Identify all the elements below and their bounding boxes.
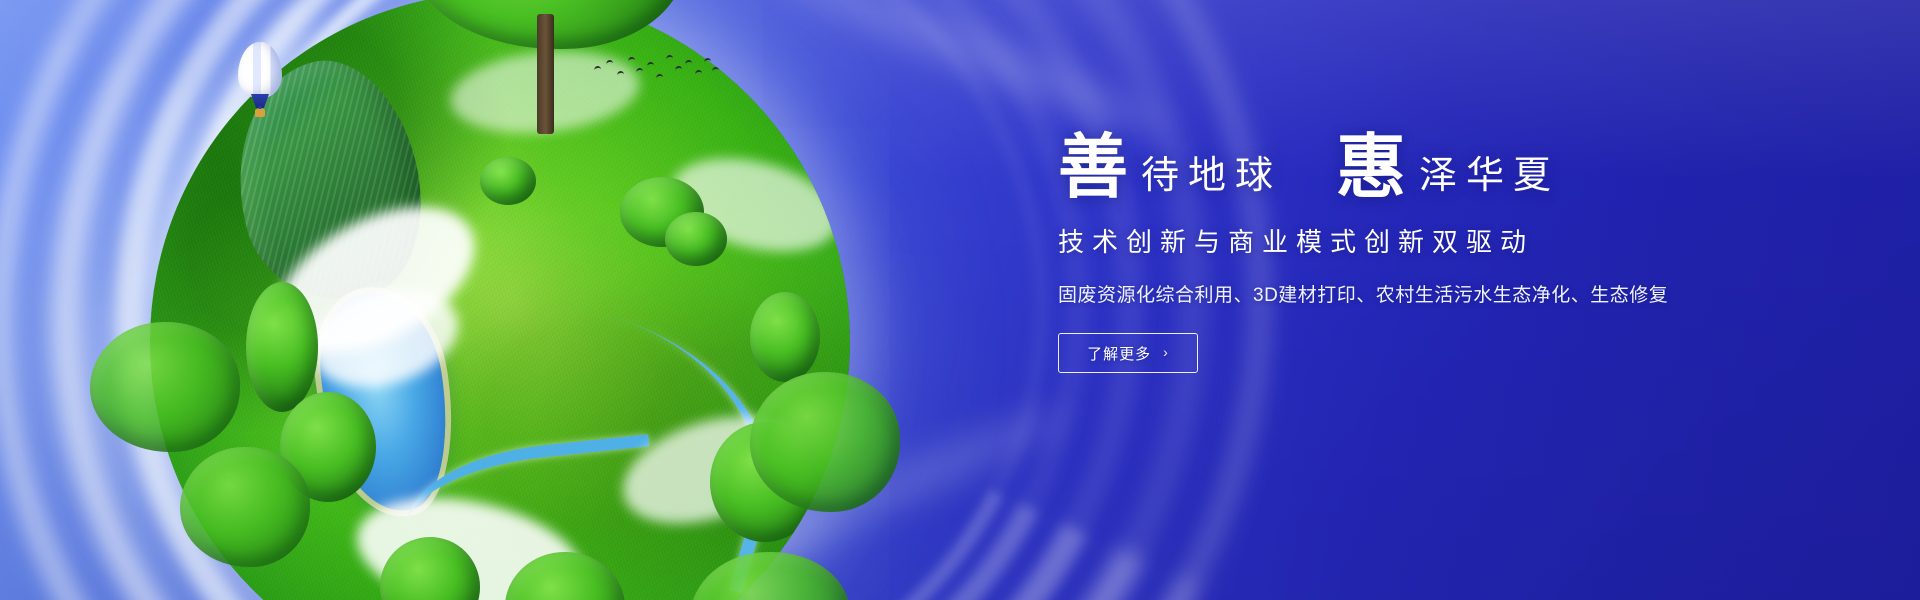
bird-icon bbox=[656, 74, 663, 79]
hero-subtitle: 技术创新与商业模式创新双驱动 bbox=[1058, 222, 1818, 259]
balloon-envelope bbox=[238, 42, 282, 98]
bird-icon bbox=[594, 66, 601, 71]
bird-icon bbox=[675, 66, 682, 71]
bird-flock bbox=[592, 52, 722, 86]
chevron-right-icon: › bbox=[1163, 344, 1169, 360]
bird-icon bbox=[666, 55, 673, 60]
tree-foliage bbox=[246, 282, 318, 412]
hero-banner: 善 待地球 惠 泽华夏 技术创新与商业模式创新双驱动 固废资源化综合利用、3D建… bbox=[0, 0, 1920, 600]
tree-foliage bbox=[180, 447, 310, 567]
bird-icon bbox=[704, 58, 711, 63]
bird-icon bbox=[712, 67, 719, 72]
bird-icon bbox=[636, 68, 643, 73]
bird-icon bbox=[685, 60, 692, 65]
headline-phrase1-small: 待地球 bbox=[1129, 157, 1282, 202]
bird-icon bbox=[617, 71, 624, 76]
tree-foliage bbox=[90, 322, 240, 452]
bird-icon bbox=[695, 70, 702, 75]
headline-phrase2-big: 惠 bbox=[1336, 134, 1407, 204]
bird-icon bbox=[628, 57, 635, 62]
bird-icon bbox=[647, 62, 654, 67]
hero-content: 善 待地球 惠 泽华夏 技术创新与商业模式创新双驱动 固废资源化综合利用、3D建… bbox=[1058, 132, 1818, 373]
page-title: 善 待地球 惠 泽华夏 bbox=[1058, 132, 1818, 202]
tree-foliage bbox=[750, 292, 820, 382]
learn-more-button[interactable]: 了解更多 › bbox=[1058, 333, 1198, 373]
hot-air-balloon-icon bbox=[238, 42, 282, 120]
headline-phrase1-big: 善 bbox=[1058, 134, 1129, 204]
tree-trunk bbox=[537, 14, 554, 134]
hero-tagline: 固废资源化综合利用、3D建材打印、农村生活污水生态净化、生态修复 bbox=[1058, 280, 1818, 307]
tree-foliage bbox=[665, 212, 727, 266]
balloon-basket bbox=[255, 109, 265, 117]
tree-foliage bbox=[480, 157, 536, 205]
learn-more-label: 了解更多 bbox=[1087, 343, 1151, 364]
tree-foliage bbox=[750, 372, 900, 512]
headline-phrase2-small: 泽华夏 bbox=[1407, 157, 1560, 202]
bird-icon bbox=[606, 60, 613, 65]
